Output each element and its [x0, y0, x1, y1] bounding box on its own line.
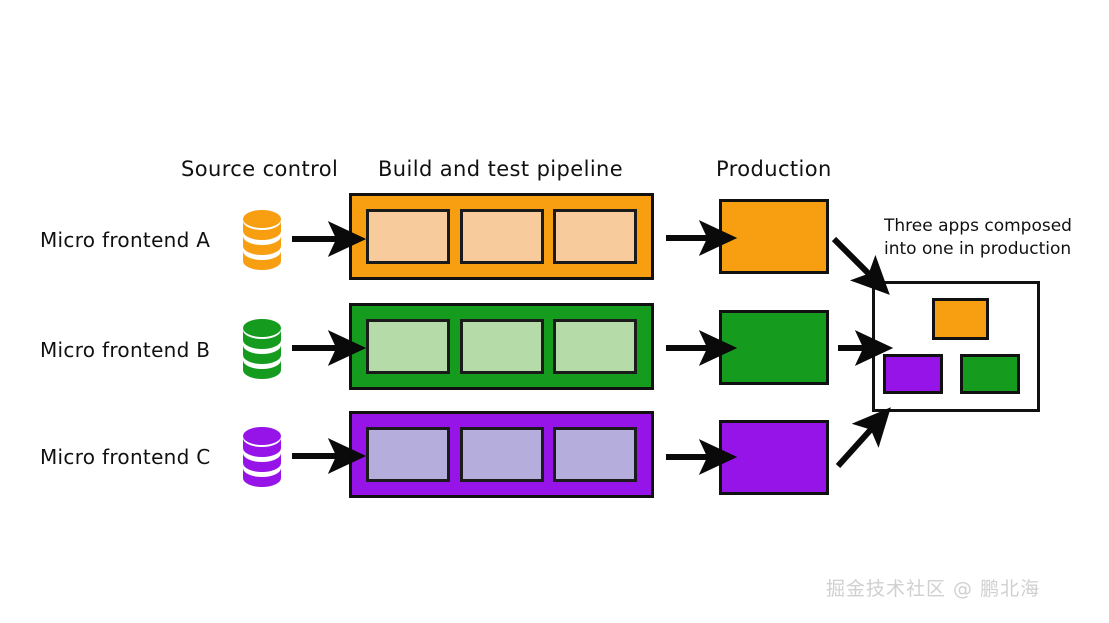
column-heading-build-and-test-pipeline: Build and test pipeline: [378, 157, 623, 181]
row-label-micro-frontend-b: Micro frontend B: [40, 338, 210, 362]
pipeline-stage: [553, 427, 637, 482]
composed-annotation-line-1: Three apps composed: [884, 215, 1104, 238]
pipeline-stage: [553, 319, 637, 374]
pipeline-box-micro-frontend-a: [349, 193, 654, 280]
column-heading-source-control: Source control: [181, 157, 338, 181]
row-label-micro-frontend-a: Micro frontend A: [40, 228, 210, 252]
pipeline-stage: [553, 209, 637, 264]
pipeline-stage: [366, 209, 450, 264]
composed-annotation: Three apps composed into one in producti…: [884, 215, 1104, 261]
micro-frontend-pipeline-diagram: Source control Build and test pipeline P…: [0, 0, 1109, 623]
row-label-micro-frontend-c: Micro frontend C: [40, 445, 211, 469]
watermark: 掘金技术社区 @ 鹏北海: [826, 574, 1040, 601]
column-heading-production: Production: [716, 157, 832, 181]
composed-annotation-line-2: into one in production: [884, 238, 1104, 261]
pipeline-stage: [460, 319, 544, 374]
pipeline-stage: [460, 427, 544, 482]
composed-app-micro-frontend-c: [883, 354, 943, 394]
composed-app-micro-frontend-a: [932, 298, 989, 340]
database-icon: [238, 425, 286, 487]
database-icon: [238, 317, 286, 379]
production-box-micro-frontend-c: [719, 420, 829, 495]
composed-app-micro-frontend-b: [960, 354, 1020, 394]
pipeline-stage: [366, 427, 450, 482]
composed-production-panel: [872, 281, 1040, 412]
production-box-micro-frontend-a: [719, 199, 829, 274]
pipeline-stage: [460, 209, 544, 264]
production-box-micro-frontend-b: [719, 310, 829, 385]
pipeline-box-micro-frontend-b: [349, 303, 654, 390]
pipeline-stage: [366, 319, 450, 374]
arrow-prod-c-to-composed: [838, 426, 874, 466]
arrow-prod-a-to-composed: [834, 239, 872, 277]
pipeline-box-micro-frontend-c: [349, 411, 654, 498]
database-icon: [238, 208, 286, 270]
